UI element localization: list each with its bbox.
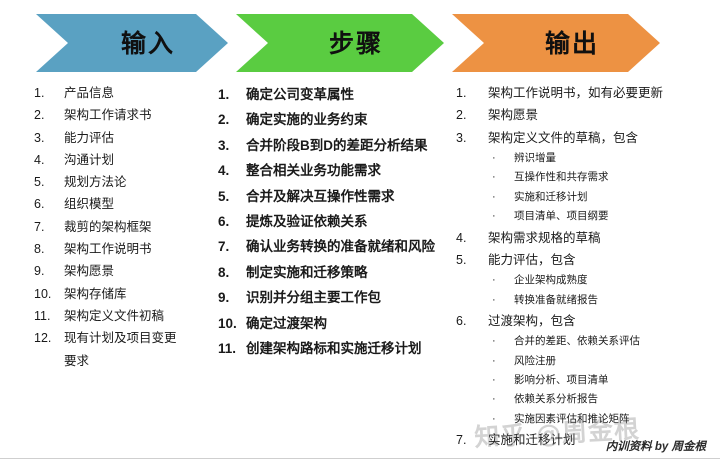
input-list-item: 5.规划方法论 bbox=[34, 171, 218, 193]
list-item-label: 合并及解决互操作性需求 bbox=[246, 184, 456, 209]
list-item-label: 沟通计划 bbox=[62, 149, 218, 171]
sub-list-item-label: 实施和迁移计划 bbox=[514, 188, 720, 207]
bullet-icon: · bbox=[492, 410, 514, 429]
sub-list-item-label: 实施因素评估和推论矩阵 bbox=[514, 410, 720, 429]
list-item-number: 9. bbox=[34, 260, 62, 282]
sub-list-item-label: 辨识增量 bbox=[514, 149, 720, 168]
column-output: 1.架构工作说明书，如有必要更新2.架构愿景3.架构定义文件的草稿，包含·辨识增… bbox=[456, 72, 720, 452]
output-sub-list: ·辨识增量·互操作性和共存需求·实施和迁移计划·项目清单、项目纲要 bbox=[456, 149, 720, 227]
list-item-label: 创建架构路标和实施迁移计划 bbox=[246, 336, 456, 361]
list-item-label: 确定公司变革属性 bbox=[246, 82, 456, 107]
list-item-label: 提炼及验证依赖关系 bbox=[246, 209, 456, 234]
sub-list-item-label: 互操作性和共存需求 bbox=[514, 168, 720, 187]
chevron-label-steps: 步骤 bbox=[329, 30, 383, 58]
steps-list-item: 7.确认业务转换的准备就绪和风险 bbox=[218, 234, 456, 259]
list-item-number: 8. bbox=[218, 260, 246, 285]
bullet-icon: · bbox=[492, 291, 514, 310]
steps-list-item: 3.合并阶段B到D的差距分析结果 bbox=[218, 133, 456, 158]
output-list-item: 1.架构工作说明书，如有必要更新 bbox=[456, 82, 720, 104]
chevron-label-input: 输入 bbox=[121, 29, 175, 58]
list-item-label: 识别并分组主要工作包 bbox=[246, 285, 456, 310]
content-columns: 1.产品信息2.架构工作请求书3.能力评估4.沟通计划5.规划方法论6.组织模型… bbox=[0, 72, 720, 446]
input-list-item: 10.架构存储库 bbox=[34, 283, 218, 305]
input-list-item: 4.沟通计划 bbox=[34, 149, 218, 171]
steps-list-item: 1.确定公司变革属性 bbox=[218, 82, 456, 107]
list-item-number: 2. bbox=[34, 104, 62, 126]
list-item-label: 架构定义文件初稿 bbox=[62, 305, 218, 327]
list-item-label: 架构愿景 bbox=[62, 260, 218, 282]
sub-list-item: ·实施因素评估和推论矩阵 bbox=[456, 410, 720, 429]
sub-list-item-label: 企业架构成熟度 bbox=[514, 271, 720, 290]
list-item-label: 现有计划及项目变更 bbox=[62, 327, 218, 349]
list-item-label: 能力评估 bbox=[62, 127, 218, 149]
bullet-icon: · bbox=[492, 168, 514, 187]
list-item-number: 10. bbox=[218, 311, 246, 336]
list-item-label: 合并阶段B到D的差距分析结果 bbox=[246, 133, 456, 158]
output-item-list: 1.架构工作说明书，如有必要更新2.架构愿景3.架构定义文件的草稿，包含·辨识增… bbox=[456, 82, 720, 452]
input-list-item: 12.现有计划及项目变更 bbox=[34, 327, 218, 349]
steps-list-item: 2.确定实施的业务约束 bbox=[218, 107, 456, 132]
list-item-label: 架构存储库 bbox=[62, 283, 218, 305]
sub-list-item-label: 依赖关系分析报告 bbox=[514, 390, 720, 409]
list-item-number: 9. bbox=[218, 285, 246, 310]
list-item-number: 11. bbox=[34, 305, 62, 327]
steps-list-item: 5.合并及解决互操作性需求 bbox=[218, 184, 456, 209]
sub-list-item-label: 风险注册 bbox=[514, 352, 720, 371]
list-item-label: 架构定义文件的草稿，包含 bbox=[488, 127, 720, 149]
list-item-number: 4. bbox=[34, 149, 62, 171]
sub-list-item-label: 项目清单、项目纲要 bbox=[514, 207, 720, 226]
list-item-label: 规划方法论 bbox=[62, 171, 218, 193]
steps-list-item: 10.确定过渡架构 bbox=[218, 311, 456, 336]
input-list-item: 9.架构愿景 bbox=[34, 260, 218, 282]
list-item-label: 架构工作说明书 bbox=[62, 238, 218, 260]
sub-list-item: ·企业架构成熟度 bbox=[456, 271, 720, 290]
list-item-label: 产品信息 bbox=[62, 82, 218, 104]
list-item-number: 3. bbox=[218, 133, 246, 158]
list-item-label: 裁剪的架构框架 bbox=[62, 216, 218, 238]
list-item-number: 10. bbox=[34, 283, 62, 305]
output-list-item: 2.架构愿景 bbox=[456, 104, 720, 126]
sub-list-item: ·实施和迁移计划 bbox=[456, 188, 720, 207]
input-item-continuation: 要求 bbox=[34, 350, 218, 372]
list-item-number: 3. bbox=[456, 127, 488, 149]
list-item-number: 11. bbox=[218, 336, 246, 361]
list-item-label: 能力评估，包含 bbox=[488, 249, 720, 271]
list-item-number: 1. bbox=[456, 82, 488, 104]
list-item-number: 7. bbox=[34, 216, 62, 238]
list-item-number: 2. bbox=[456, 104, 488, 126]
steps-list-item: 8.制定实施和迁移策略 bbox=[218, 260, 456, 285]
list-item-number: 12. bbox=[34, 327, 62, 349]
output-list-item: 6.过渡架构，包含 bbox=[456, 310, 720, 332]
list-item-number: 8. bbox=[34, 238, 62, 260]
list-item-label: 整合相关业务功能需求 bbox=[246, 158, 456, 183]
bullet-icon: · bbox=[492, 149, 514, 168]
sub-list-item: ·项目清单、项目纲要 bbox=[456, 207, 720, 226]
sub-list-item: ·合并的差距、依赖关系评估 bbox=[456, 332, 720, 351]
footer-note: 内训资料 by 周金根 bbox=[606, 438, 706, 454]
list-item-number: 4. bbox=[218, 158, 246, 183]
list-item-label: 制定实施和迁移策略 bbox=[246, 260, 456, 285]
sub-list-item-label: 合并的差距、依赖关系评估 bbox=[514, 332, 720, 351]
sub-list-item-label: 转换准备就绪报告 bbox=[514, 291, 720, 310]
bullet-icon: · bbox=[492, 332, 514, 351]
input-item-list: 1.产品信息2.架构工作请求书3.能力评估4.沟通计划5.规划方法论6.组织模型… bbox=[34, 82, 218, 350]
input-list-item: 8.架构工作说明书 bbox=[34, 238, 218, 260]
list-item-label: 过渡架构，包含 bbox=[488, 310, 720, 332]
sub-list-item: ·互操作性和共存需求 bbox=[456, 168, 720, 187]
list-item-number: 5. bbox=[456, 249, 488, 271]
list-item-label: 确定实施的业务约束 bbox=[246, 107, 456, 132]
list-item-number: 4. bbox=[456, 227, 488, 249]
list-item-label: 架构工作说明书，如有必要更新 bbox=[488, 82, 720, 104]
list-item-label: 组织模型 bbox=[62, 193, 218, 215]
output-list-item: 3.架构定义文件的草稿，包含 bbox=[456, 127, 720, 149]
bullet-icon: · bbox=[492, 390, 514, 409]
sub-list-item: ·转换准备就绪报告 bbox=[456, 291, 720, 310]
footer-divider bbox=[0, 458, 720, 459]
list-item-number: 6. bbox=[218, 209, 246, 234]
list-item-label: 架构工作请求书 bbox=[62, 104, 218, 126]
sub-list-item: ·影响分析、项目清单 bbox=[456, 371, 720, 390]
list-item-number: 1. bbox=[218, 82, 246, 107]
column-input: 1.产品信息2.架构工作请求书3.能力评估4.沟通计划5.规划方法论6.组织模型… bbox=[0, 72, 218, 372]
list-item-number: 5. bbox=[34, 171, 62, 193]
input-list-item: 2.架构工作请求书 bbox=[34, 104, 218, 126]
steps-list-item: 11.创建架构路标和实施迁移计划 bbox=[218, 336, 456, 361]
list-item-number: 6. bbox=[456, 310, 488, 332]
sub-list-item-label: 影响分析、项目清单 bbox=[514, 371, 720, 390]
sub-list-item: ·依赖关系分析报告 bbox=[456, 390, 720, 409]
list-item-label: 架构需求规格的草稿 bbox=[488, 227, 720, 249]
sub-list-item: ·风险注册 bbox=[456, 352, 720, 371]
input-list-item: 3.能力评估 bbox=[34, 127, 218, 149]
list-item-number: 1. bbox=[34, 82, 62, 104]
input-list-item: 6.组织模型 bbox=[34, 193, 218, 215]
steps-list-item: 9.识别并分组主要工作包 bbox=[218, 285, 456, 310]
input-list-item: 1.产品信息 bbox=[34, 82, 218, 104]
list-item-number: 6. bbox=[34, 193, 62, 215]
list-item-label: 确认业务转换的准备就绪和风险 bbox=[246, 234, 456, 259]
bullet-icon: · bbox=[492, 207, 514, 226]
list-item-label: 架构愿景 bbox=[488, 104, 720, 126]
output-sub-list: ·企业架构成熟度·转换准备就绪报告 bbox=[456, 271, 720, 310]
input-list-item: 11.架构定义文件初稿 bbox=[34, 305, 218, 327]
bullet-icon: · bbox=[492, 271, 514, 290]
bullet-icon: · bbox=[492, 188, 514, 207]
list-item-number: 2. bbox=[218, 107, 246, 132]
list-item-number: 7. bbox=[456, 429, 488, 451]
output-sub-list: ·合并的差距、依赖关系评估·风险注册·影响分析、项目清单·依赖关系分析报告·实施… bbox=[456, 332, 720, 429]
list-item-label: 确定过渡架构 bbox=[246, 311, 456, 336]
header-chevron-banner: 输入 步骤 输出 bbox=[0, 0, 720, 72]
steps-list-item: 6.提炼及验证依赖关系 bbox=[218, 209, 456, 234]
list-item-number: 7. bbox=[218, 234, 246, 259]
bullet-icon: · bbox=[492, 371, 514, 390]
sub-list-item: ·辨识增量 bbox=[456, 149, 720, 168]
list-item-number: 3. bbox=[34, 127, 62, 149]
steps-list-item: 4.整合相关业务功能需求 bbox=[218, 158, 456, 183]
steps-item-list: 1.确定公司变革属性2.确定实施的业务约束3.合并阶段B到D的差距分析结果4.整… bbox=[218, 82, 456, 361]
column-steps: 1.确定公司变革属性2.确定实施的业务约束3.合并阶段B到D的差距分析结果4.整… bbox=[218, 72, 456, 361]
bullet-icon: · bbox=[492, 352, 514, 371]
output-list-item: 4.架构需求规格的草稿 bbox=[456, 227, 720, 249]
output-list-item: 5.能力评估，包含 bbox=[456, 249, 720, 271]
chevron-label-output: 输出 bbox=[545, 29, 599, 58]
input-list-item: 7.裁剪的架构框架 bbox=[34, 216, 218, 238]
list-item-number: 5. bbox=[218, 184, 246, 209]
